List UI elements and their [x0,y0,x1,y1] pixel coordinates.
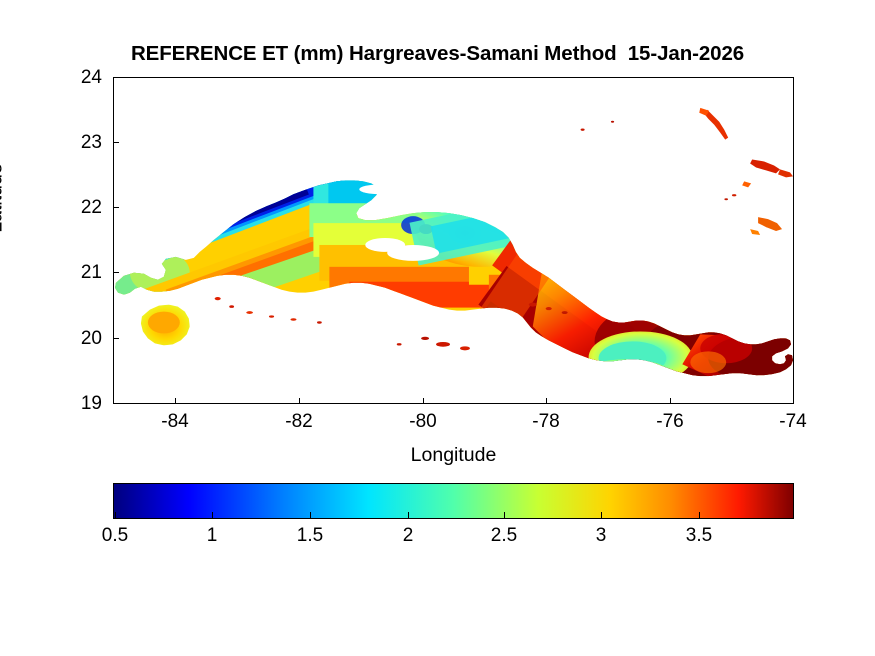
colorbar-label-1.5: 1.5 [275,526,345,545]
colorbar-tick-3 [601,512,602,519]
colorbar-label-2: 2 [373,526,443,545]
ytick-19 [113,403,119,404]
xtick--80 [423,398,424,404]
ytick-label-22: 22 [44,198,102,217]
x-axis-label: Longitude [113,444,794,467]
colorbar-label-3.5: 3.5 [664,526,734,545]
ytick-22 [113,207,119,208]
ytick-21 [113,272,119,273]
ytick-label-24: 24 [44,68,102,87]
xtick-label--84: -84 [135,412,215,431]
chart-title: REFERENCE ET (mm) Hargreaves-Samani Meth… [0,42,875,66]
matlab-figure: REFERENCE ET (mm) Hargreaves-Samani Meth… [0,0,875,656]
colorbar-tick-1 [212,512,213,519]
colorbar-tick-3.5 [699,512,700,519]
y-axis-label: Latitude [0,163,8,232]
xtick--76 [670,398,671,404]
colorbar-tick-0.5 [115,512,116,519]
ytick-20 [113,338,119,339]
ytick-label-20: 20 [44,329,102,348]
colorbar-label-3: 3 [566,526,636,545]
xtick--78 [546,398,547,404]
colorbar [113,483,794,519]
colorbar-label-2.5: 2.5 [469,526,539,545]
xtick-label--82: -82 [259,412,339,431]
ytick-24 [113,77,119,78]
xtick-label--74: -74 [753,412,833,431]
colorbar-label-1: 1 [177,526,247,545]
colorbar-gradient [114,484,793,518]
xtick--74 [793,398,794,404]
xtick-label--78: -78 [506,412,586,431]
colorbar-tick-1.5 [310,512,311,519]
xtick-label--76: -76 [630,412,710,431]
ytick-label-21: 21 [44,263,102,282]
ytick-label-19: 19 [44,394,102,413]
xtick--82 [299,398,300,404]
et-heatmap [114,78,793,403]
ytick-label-23: 23 [44,133,102,152]
colorbar-tick-2.5 [504,512,505,519]
colorbar-label-0.5: 0.5 [80,526,150,545]
xtick-label--80: -80 [383,412,463,431]
xtick--84 [175,398,176,404]
map-axes [113,77,794,404]
colorbar-tick-2 [408,512,409,519]
ytick-23 [113,142,119,143]
